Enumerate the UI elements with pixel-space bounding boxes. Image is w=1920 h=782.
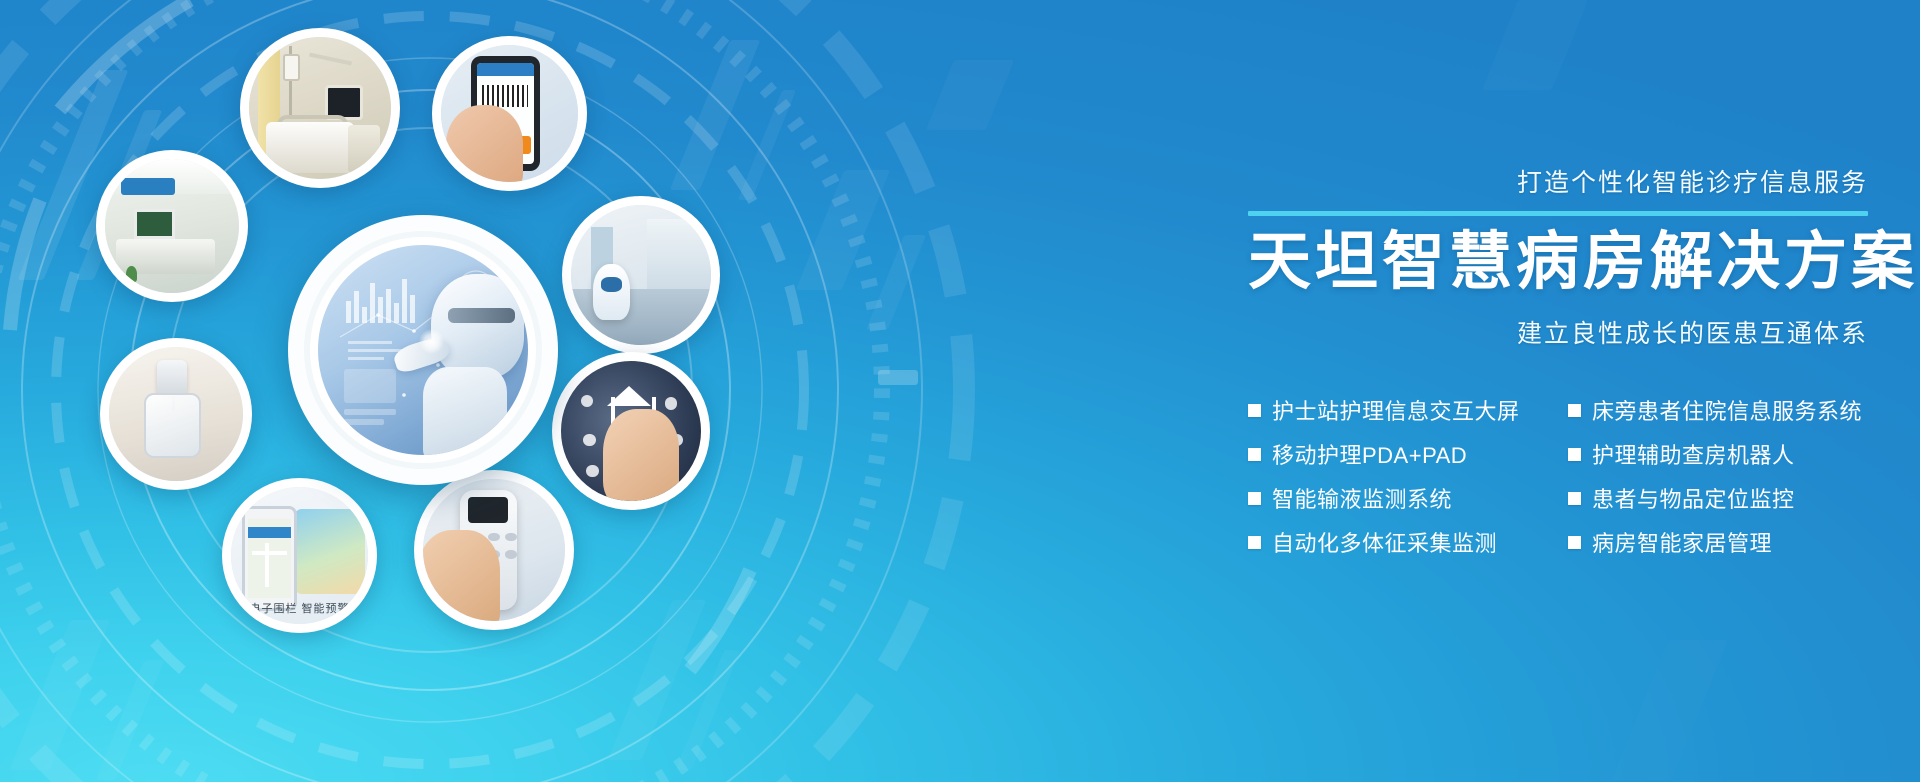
nurse-station-scene xyxy=(105,159,239,293)
photo-handheld-vital-monitor xyxy=(414,470,574,630)
smart-home-scene xyxy=(561,361,701,501)
feature-label: 移动护理PDA+PAD xyxy=(1272,438,1467,470)
square-bullet-icon xyxy=(1568,492,1581,505)
photo-location-map-app: 电子围栏 智能预警 xyxy=(222,478,377,633)
location-map-scene: 电子围栏 智能预警 xyxy=(231,487,368,624)
banner-content: 打造个性化智能诊疗信息服务 天坦智慧病房解决方案 建立良性成长的医患互通体系 护… xyxy=(1248,168,1868,558)
feature-item: 移动护理PDA+PAD xyxy=(1248,438,1548,470)
corridor-robot-scene xyxy=(571,205,711,345)
feature-label: 智能输液监测系统 xyxy=(1272,482,1452,514)
feature-item: 智能输液监测系统 xyxy=(1248,482,1548,514)
photo-iv-infusion-monitor xyxy=(100,338,252,490)
feature-label: 护士站护理信息交互大屏 xyxy=(1272,394,1520,426)
ward-scene xyxy=(249,37,391,179)
feature-label: 患者与物品定位监控 xyxy=(1592,482,1795,514)
square-bullet-icon xyxy=(1248,448,1261,461)
square-bullet-icon xyxy=(1248,492,1261,505)
tagline-text: 建立良性成长的医患互通体系 xyxy=(1248,314,1868,350)
photo-smart-home-control xyxy=(552,352,710,510)
hero-banner: 电子围栏 智能预警 xyxy=(0,0,1920,782)
square-bullet-icon xyxy=(1568,404,1581,417)
feature-item: 护士站护理信息交互大屏 xyxy=(1248,394,1548,426)
photo-corridor-service-robot xyxy=(562,196,720,354)
photo-nurse-station xyxy=(96,150,248,302)
feature-item: 床旁患者住院信息服务系统 xyxy=(1568,394,1868,426)
feature-item: 护理辅助查房机器人 xyxy=(1568,438,1868,470)
eyebrow-text: 打造个性化智能诊疗信息服务 xyxy=(1248,168,1868,198)
feature-item: 自动化多体征采集监测 xyxy=(1248,526,1548,558)
page-title: 天坦智慧病房解决方案 xyxy=(1248,228,1868,296)
center-photo-robot-hologram xyxy=(288,215,558,485)
feature-item: 患者与物品定位监控 xyxy=(1568,482,1868,514)
square-bullet-icon xyxy=(1248,404,1261,417)
map-caption: 电子围栏 智能预警 xyxy=(231,600,368,616)
square-bullet-icon xyxy=(1568,536,1581,549)
feature-label: 自动化多体征采集监测 xyxy=(1272,526,1497,558)
feature-label: 护理辅助查房机器人 xyxy=(1592,438,1795,470)
robot-hologram-scene xyxy=(318,245,528,455)
square-bullet-icon xyxy=(1568,448,1581,461)
feature-list: 护士站护理信息交互大屏 床旁患者住院信息服务系统 移动护理PDA+PAD 护理辅… xyxy=(1248,394,1868,558)
feature-item: 病房智能家居管理 xyxy=(1568,526,1868,558)
square-bullet-icon xyxy=(1248,536,1261,549)
handheld-monitor-scene xyxy=(423,479,565,621)
photo-ward-bedside-terminal xyxy=(240,28,400,188)
photo-mobile-barcode-scan xyxy=(432,36,587,191)
barcode-scan-scene xyxy=(441,45,578,182)
accent-rule xyxy=(1248,211,1868,216)
feature-label: 床旁患者住院信息服务系统 xyxy=(1592,394,1862,426)
feature-label: 病房智能家居管理 xyxy=(1592,526,1772,558)
iv-monitor-scene xyxy=(109,347,243,481)
